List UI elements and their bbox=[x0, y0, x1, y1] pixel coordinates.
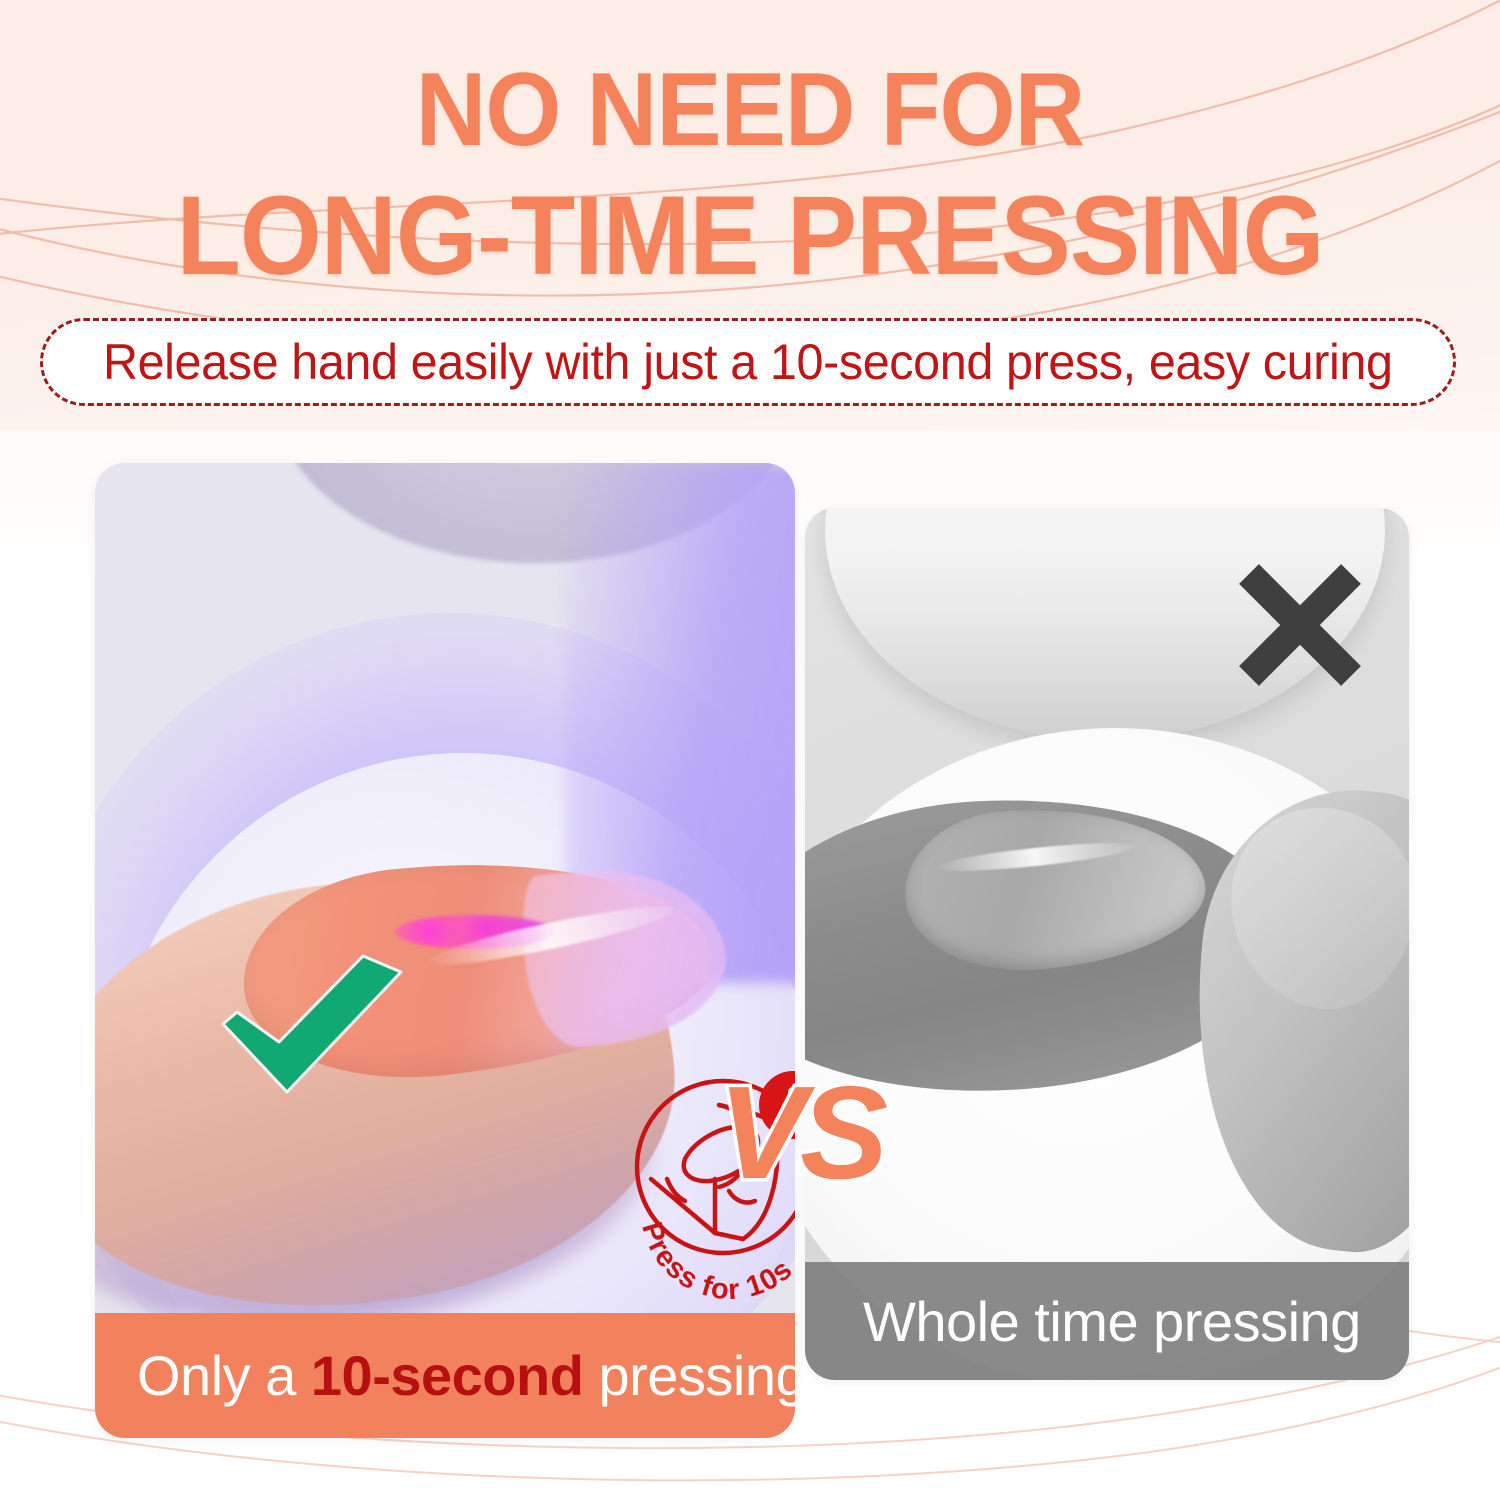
caption-correct-text: Only a 10-second pressing bbox=[137, 1343, 795, 1408]
page-title: NO NEED FOR LONG-TIME PRESSING bbox=[45, 58, 1455, 292]
caption-incorrect-text: Whole time pressing bbox=[863, 1289, 1361, 1354]
green-check-icon bbox=[217, 950, 407, 1100]
comparison-panel-correct: Press for 10s Only a 10-second pressing bbox=[95, 463, 795, 1438]
red-x-icon bbox=[1235, 560, 1365, 690]
caption-incorrect: Whole time pressing bbox=[805, 1262, 1409, 1380]
comparison-panel-incorrect: Whole time pressing bbox=[805, 508, 1409, 1380]
promo-page: NO NEED FOR LONG-TIME PRESSING Release h… bbox=[0, 0, 1500, 1500]
caption-highlight: 10-second bbox=[311, 1344, 584, 1407]
headline-line-2: LONG-TIME PRESSING bbox=[45, 180, 1455, 292]
caption-correct: Only a 10-second pressing bbox=[95, 1313, 795, 1438]
subtitle-text: Release hand easily with just a 10-secon… bbox=[103, 333, 1393, 391]
subtitle-banner: Release hand easily with just a 10-secon… bbox=[40, 318, 1456, 406]
caption-prefix: Only a bbox=[137, 1344, 311, 1407]
vs-badge: VS bbox=[700, 1058, 900, 1208]
caption-suffix: pressing bbox=[583, 1344, 795, 1407]
headline-line-1: NO NEED FOR bbox=[416, 52, 1085, 168]
